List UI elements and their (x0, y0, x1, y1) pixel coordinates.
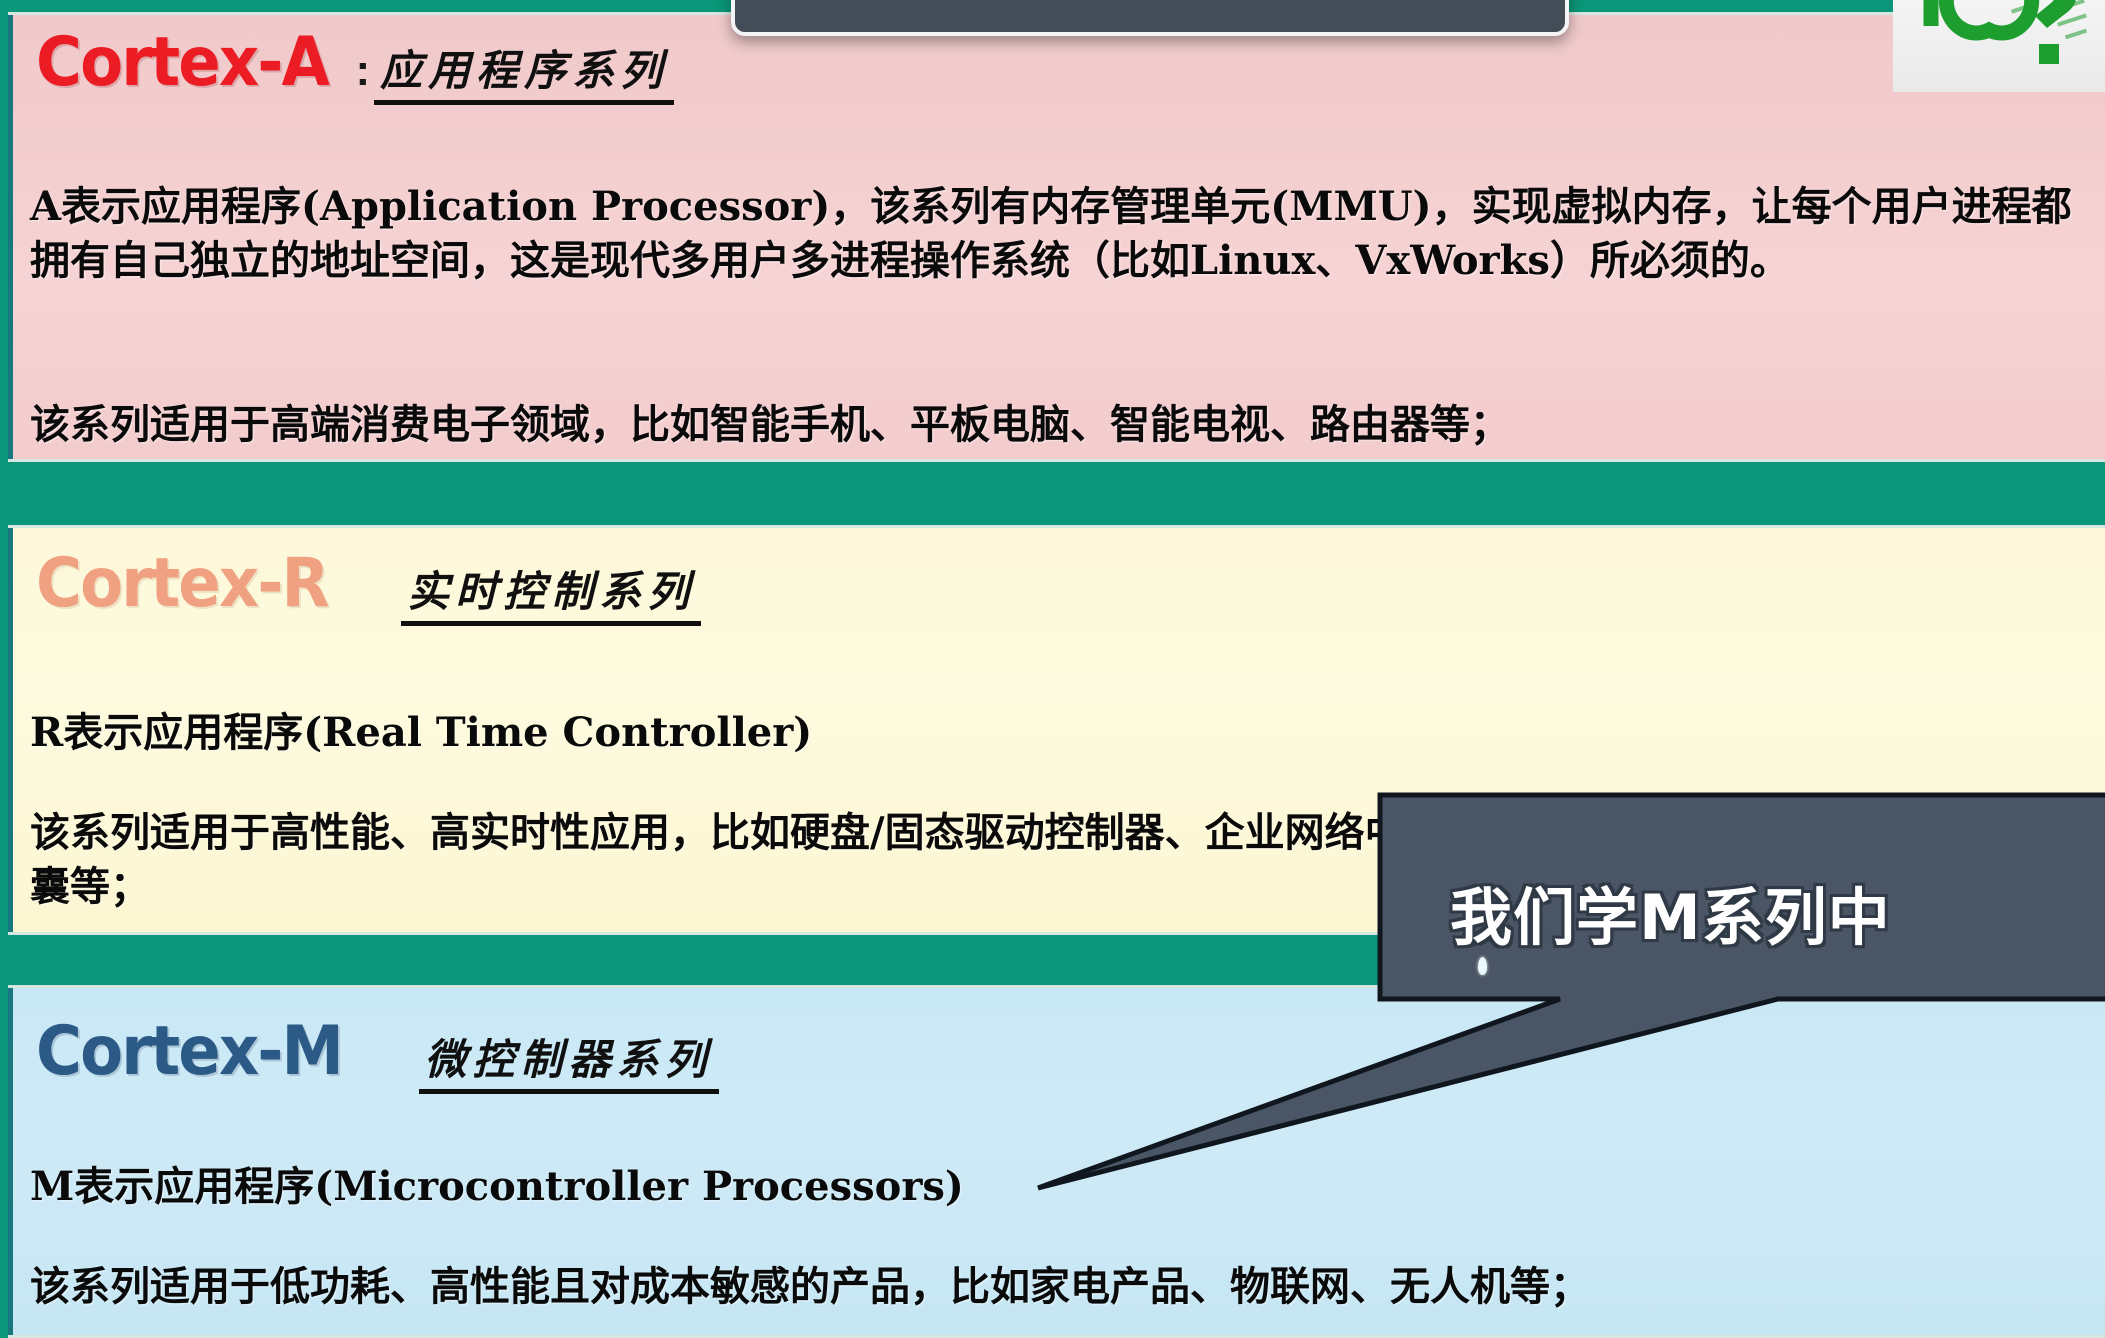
cortex-r-paragraph-1: R表示应用程序(Real Time Controller) (30, 706, 2091, 760)
cortex-r-subtitle: 实时控制系列 (401, 570, 701, 626)
cortex-r-heading: Cortex-R 实时控制系列 (36, 550, 701, 626)
cortex-a-subtitle: 应用程序系列 (374, 49, 674, 105)
cortex-r-wordmark: Cortex-R (36, 550, 328, 618)
top-dark-panel[interactable] (731, 0, 1569, 36)
section-cortex-a: Cortex-A : 应用程序系列 A表示应用程序(Application Pr… (8, 12, 2105, 462)
mouse-pointer-dot (1478, 957, 1487, 975)
cortex-m-paragraph-1: M表示应用程序(Microcontroller Processors) (30, 1160, 2091, 1214)
cortex-m-wordmark: Cortex-M (36, 1018, 342, 1086)
cortex-m-heading: Cortex-M 微控制器系列 (36, 1018, 719, 1094)
cortex-m-paragraph-2: 该系列适用于低功耗、高性能且对成本敏感的产品，比如家电产品、物联网、无人机等； (30, 1260, 2091, 1314)
cortex-a-colon: : (356, 46, 371, 96)
slide-screenshot: Cortex-A : 应用程序系列 A表示应用程序(Application Pr… (0, 0, 2105, 1338)
cortex-a-paragraph-2: 该系列适用于高端消费电子领域，比如智能手机、平板电脑、智能电视、路由器等； (30, 398, 2091, 452)
io-question-logo-icon (1893, 0, 2105, 92)
cortex-r-paragraph-2: 该系列适用于高性能、高实时性应用，比如硬盘/固态驱动控制器、企业网络中的蓝光播放… (30, 806, 2035, 913)
section-cortex-r: Cortex-R 实时控制系列 R表示应用程序(Real Time Contro… (8, 525, 2105, 935)
cortex-a-heading: Cortex-A : 应用程序系列 (36, 29, 674, 105)
cortex-a-paragraph-1: A表示应用程序(Application Processor)，该系列有内存管理单… (30, 180, 2091, 287)
cortex-a-wordmark: Cortex-A (36, 29, 328, 97)
section-cortex-m: Cortex-M 微控制器系列 M表示应用程序(Microcontroller … (8, 985, 2105, 1338)
app-logo-tile[interactable] (1893, 0, 2105, 92)
cortex-m-subtitle: 微控制器系列 (419, 1038, 719, 1094)
